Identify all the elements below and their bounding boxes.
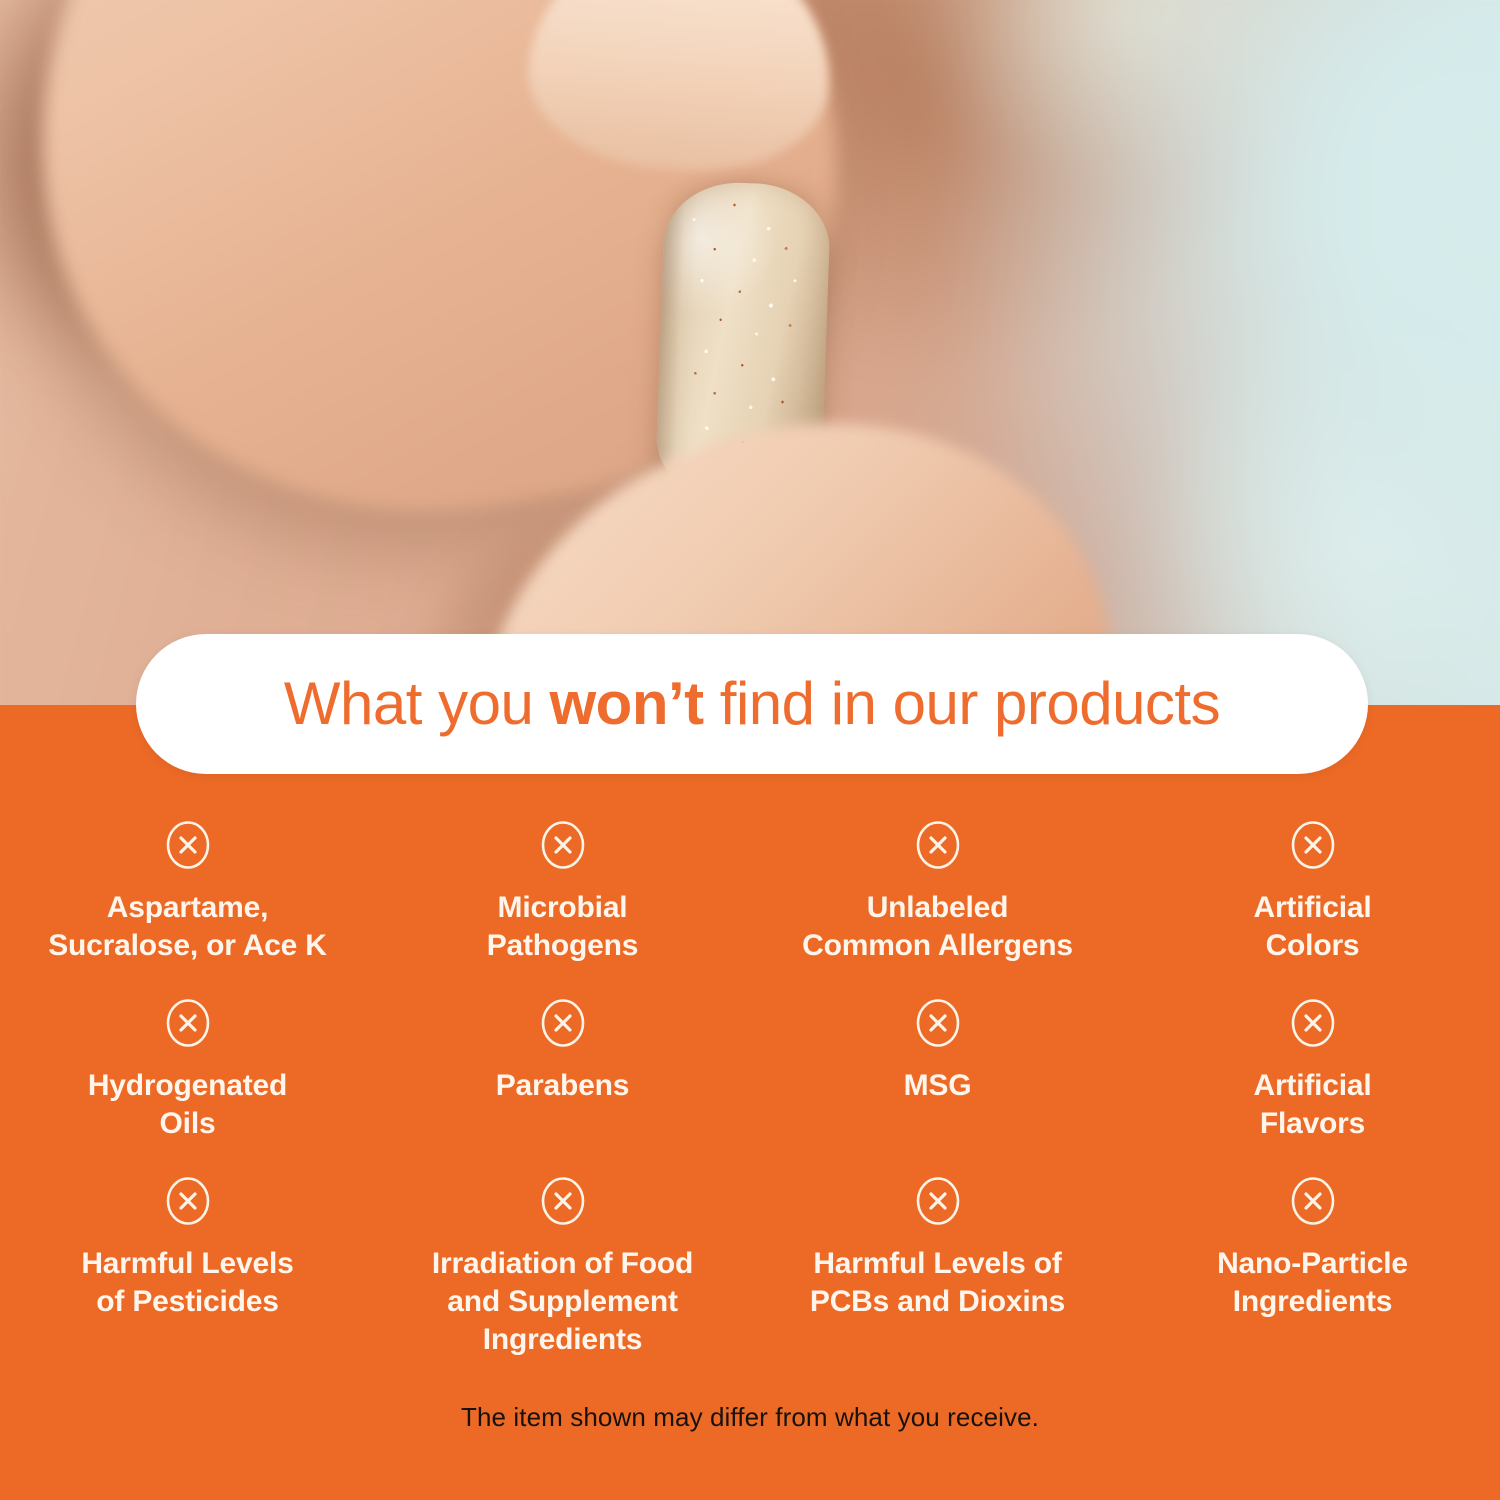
- grid-item-label: Parabens: [391, 1067, 734, 1105]
- circle-x-icon: [1141, 820, 1484, 875]
- circle-x-icon: [391, 1176, 734, 1231]
- grid-item-label: Artificial Flavors: [1141, 1067, 1484, 1143]
- grid-item-parabens: Parabens: [375, 998, 750, 1176]
- grid-item-label: Microbial Pathogens: [391, 889, 734, 965]
- circle-x-icon: [1141, 1176, 1484, 1231]
- product-photo: [0, 0, 1500, 712]
- grid-item-label: Unlabeled Common Allergens: [766, 889, 1109, 965]
- grid-item-unlabeled-allergens: Unlabeled Common Allergens: [750, 820, 1125, 998]
- grid-item-label: MSG: [766, 1067, 1109, 1105]
- grid-item-label: Harmful Levels of Pesticides: [16, 1245, 359, 1321]
- grid-item-msg: MSG: [750, 998, 1125, 1176]
- grid-item-pcbs-dioxins: Harmful Levels of PCBs and Dioxins: [750, 1176, 1125, 1366]
- grid-item-label: Irradiation of Food and Supplement Ingre…: [391, 1245, 734, 1359]
- grid-item-label: Aspartame, Sucralose, or Ace K: [16, 889, 359, 965]
- grid-item-pesticides: Harmful Levels of Pesticides: [0, 1176, 375, 1366]
- grid-item-label: Nano-Particle Ingredients: [1141, 1245, 1484, 1321]
- grid-item-artificial-colors: Artificial Colors: [1125, 820, 1500, 998]
- grid-item-artificial-flavors: Artificial Flavors: [1125, 998, 1500, 1176]
- circle-x-icon: [766, 820, 1109, 875]
- circle-x-icon: [391, 820, 734, 875]
- disclaimer-text: The item shown may differ from what you …: [0, 1402, 1500, 1433]
- circle-x-icon: [1141, 998, 1484, 1053]
- grid-item-aspartame: Aspartame, Sucralose, or Ace K: [0, 820, 375, 998]
- page-title: What you won’t find in our products: [284, 674, 1220, 734]
- grid-item-nano-particle: Nano-Particle Ingredients: [1125, 1176, 1500, 1366]
- title-suffix: find in our products: [704, 670, 1220, 737]
- grid-item-label: Harmful Levels of PCBs and Dioxins: [766, 1245, 1109, 1321]
- circle-x-icon: [16, 820, 359, 875]
- circle-x-icon: [391, 998, 734, 1053]
- grid-item-label: Hydrogenated Oils: [16, 1067, 359, 1143]
- product-infographic: What you won’t find in our products Aspa…: [0, 0, 1500, 1500]
- circle-x-icon: [16, 998, 359, 1053]
- grid-item-microbial-pathogens: Microbial Pathogens: [375, 820, 750, 998]
- circle-x-icon: [766, 998, 1109, 1053]
- grid-item-irradiation: Irradiation of Food and Supplement Ingre…: [375, 1176, 750, 1366]
- grid-item-hydrogenated-oils: Hydrogenated Oils: [0, 998, 375, 1176]
- grid-item-label: Artificial Colors: [1141, 889, 1484, 965]
- circle-x-icon: [766, 1176, 1109, 1231]
- title-pill: What you won’t find in our products: [136, 634, 1368, 774]
- title-prefix: What you: [284, 670, 550, 737]
- circle-x-icon: [16, 1176, 359, 1231]
- title-emphasis: won’t: [550, 670, 704, 737]
- excluded-ingredients-grid: Aspartame, Sucralose, or Ace K Microbial…: [0, 820, 1500, 1366]
